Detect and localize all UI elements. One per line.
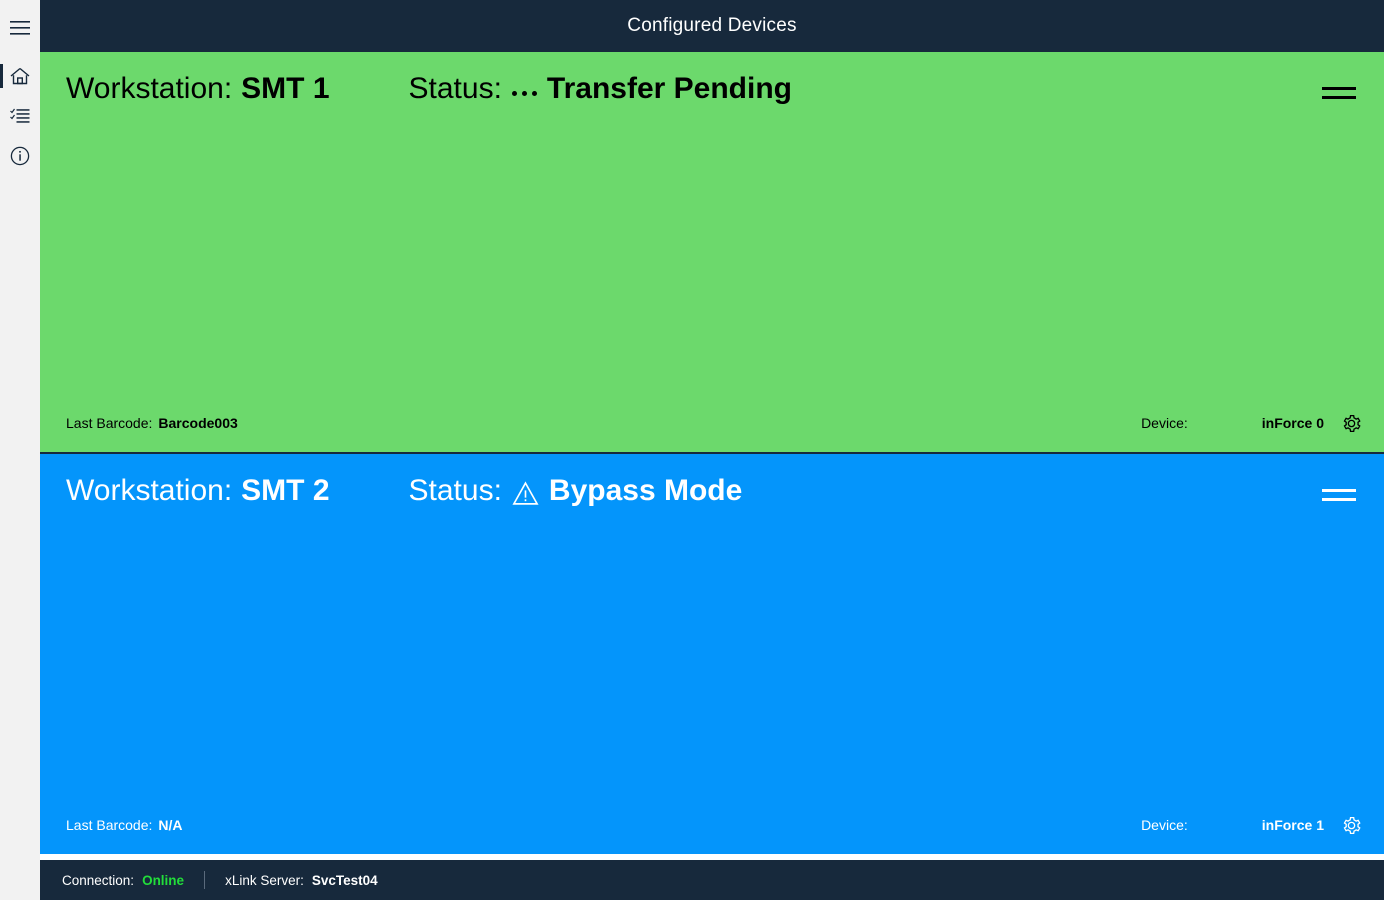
window-titlebar: Configured Devices — [40, 0, 1384, 52]
content-area: Configured Devices Workstation: SMT 1 St… — [40, 0, 1384, 900]
collapse-icon[interactable] — [1322, 72, 1362, 108]
device-value: inForce 1 — [1262, 817, 1324, 833]
gear-icon[interactable] — [1340, 814, 1362, 836]
connection-label: Connection: — [62, 873, 134, 888]
device-label: Device: — [1141, 817, 1188, 833]
device-value: inForce 0 — [1262, 415, 1324, 431]
device-card-smt1[interactable]: Workstation: SMT 1 Status: Transfer Pend… — [40, 52, 1384, 454]
sidebar-item-menu[interactable] — [0, 8, 40, 48]
workstation-value: SMT 1 — [241, 72, 329, 106]
workstation-label: Workstation: — [66, 474, 232, 508]
hamburger-menu-icon — [10, 21, 30, 35]
status-block: Status: Transfer Pending — [409, 72, 792, 106]
gear-icon[interactable] — [1340, 412, 1362, 434]
collapse-icon[interactable] — [1322, 474, 1362, 510]
status-value: Transfer Pending — [547, 72, 792, 106]
device-block: Device: inForce 0 — [1141, 412, 1362, 434]
card-footer: Last Barcode: N/A Device: inForce 1 — [40, 814, 1384, 854]
page-title: Configured Devices — [627, 15, 796, 37]
home-icon — [10, 67, 30, 85]
status-bar-divider — [204, 871, 205, 889]
warning-triangle-icon — [512, 477, 539, 502]
workstation-block: Workstation: SMT 1 — [66, 72, 330, 106]
card-body — [40, 510, 1384, 814]
status-bar: Connection: Online xLink Server: SvcTest… — [40, 860, 1384, 900]
sidebar-nav — [0, 0, 40, 900]
status-label: Status: — [409, 72, 502, 106]
xlink-server-status: xLink Server: SvcTest04 — [225, 873, 378, 888]
last-barcode-label: Last Barcode: — [66, 415, 152, 431]
sidebar-item-home[interactable] — [0, 56, 40, 96]
card-header: Workstation: SMT 2 Status: Bypass — [40, 454, 1384, 510]
card-body — [40, 108, 1384, 412]
ellipsis-icon — [512, 95, 537, 100]
xlink-server-label: xLink Server: — [225, 873, 304, 888]
device-label: Device: — [1141, 415, 1188, 431]
last-barcode-label: Last Barcode: — [66, 817, 152, 833]
connection-value: Online — [142, 873, 184, 888]
info-icon — [10, 146, 30, 166]
sidebar-item-info[interactable] — [0, 136, 40, 176]
workstation-block: Workstation: SMT 2 — [66, 474, 330, 508]
device-card-list: Workstation: SMT 1 Status: Transfer Pend… — [40, 52, 1384, 854]
connection-status: Connection: Online — [62, 873, 184, 888]
app-window: Configured Devices Workstation: SMT 1 St… — [0, 0, 1384, 900]
status-value: Bypass Mode — [549, 474, 742, 508]
last-barcode-value: Barcode003 — [158, 415, 237, 431]
workstation-value: SMT 2 — [241, 474, 329, 508]
device-card-smt2[interactable]: Workstation: SMT 2 Status: Bypass — [40, 454, 1384, 854]
status-label: Status: — [409, 474, 502, 508]
workstation-label: Workstation: — [66, 72, 232, 106]
last-barcode-block: Last Barcode: Barcode003 — [66, 415, 238, 431]
checklist-icon — [10, 108, 30, 124]
device-block: Device: inForce 1 — [1141, 814, 1362, 836]
card-footer: Last Barcode: Barcode003 Device: inForce… — [40, 412, 1384, 452]
sidebar-item-checklist[interactable] — [0, 96, 40, 136]
last-barcode-value: N/A — [158, 817, 182, 833]
status-block: Status: Bypass Mode — [409, 474, 743, 508]
card-header: Workstation: SMT 1 Status: Transfer Pend… — [40, 52, 1384, 108]
last-barcode-block: Last Barcode: N/A — [66, 817, 183, 833]
xlink-server-value: SvcTest04 — [312, 873, 378, 888]
